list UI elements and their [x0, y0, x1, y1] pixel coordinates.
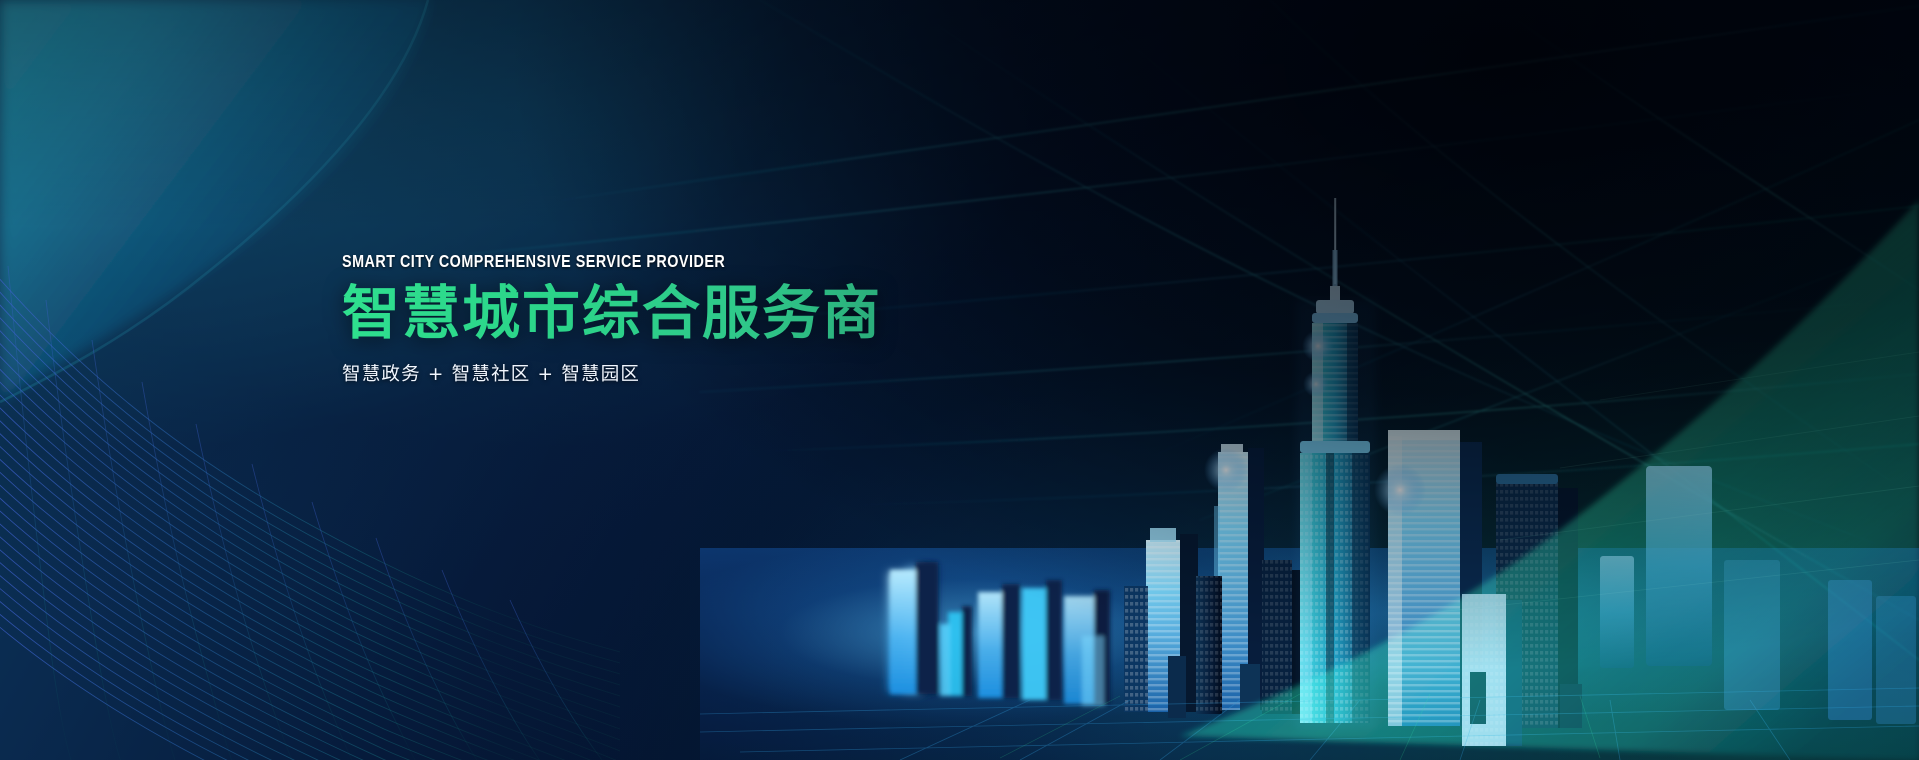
- hero-tagline: 智慧政务 + 智慧社区 + 智慧园区: [342, 360, 982, 386]
- hero-text-block: SMART CITY COMPREHENSIVE SERVICE PROVIDE…: [342, 253, 982, 386]
- hero-headline: 智慧城市综合服务商: [342, 283, 982, 344]
- hero-eyebrow: SMART CITY COMPREHENSIVE SERVICE PROVIDE…: [342, 253, 867, 271]
- hero-banner: SMART CITY COMPREHENSIVE SERVICE PROVIDE…: [0, 0, 1919, 760]
